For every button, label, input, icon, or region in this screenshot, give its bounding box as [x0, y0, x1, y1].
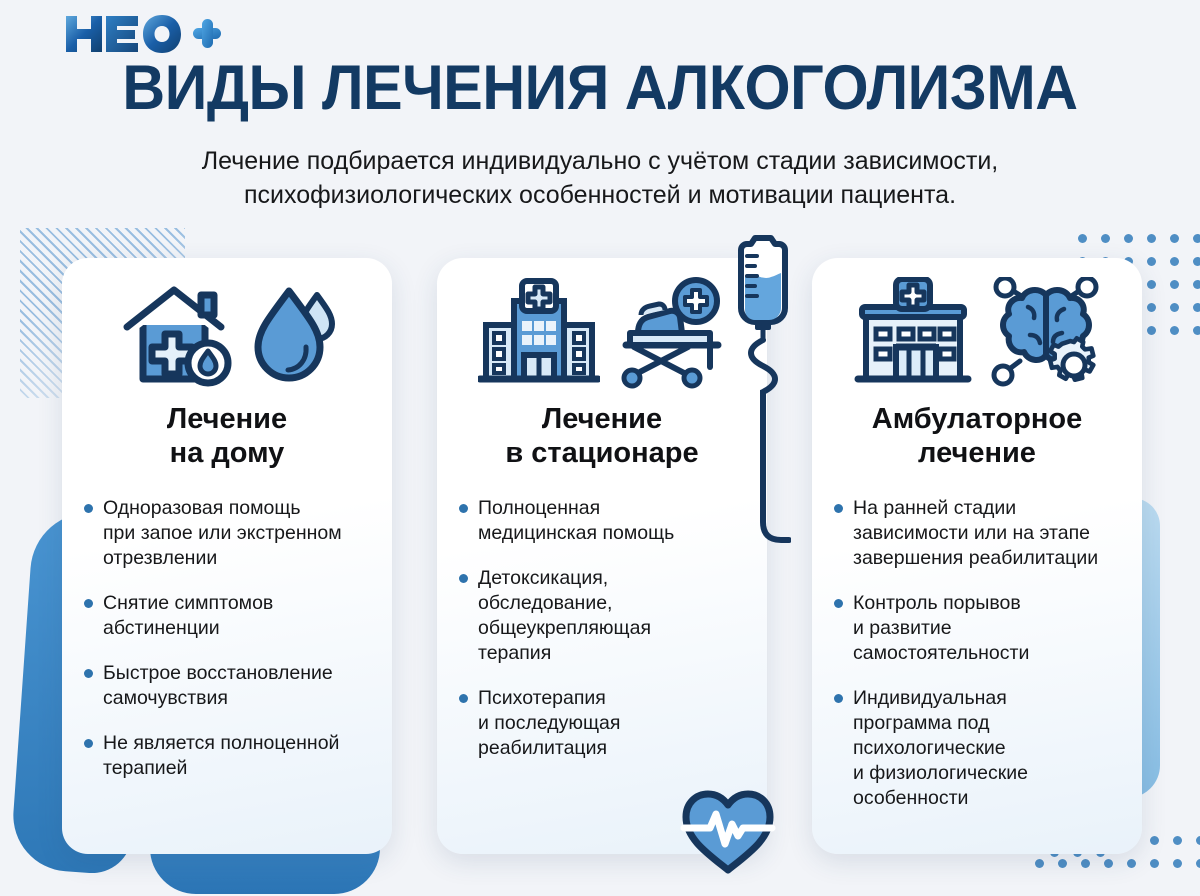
list-item: Быстрое восстановление самочувствия	[84, 661, 372, 711]
hospital-bed-icon	[616, 277, 726, 394]
list-item: Индивидуальная программа под психологиче…	[834, 686, 1122, 811]
card-outpatient-title-line-2: лечение	[826, 436, 1128, 470]
card-outpatient-bullet-list: На ранней стадии зависимости или на этап…	[812, 470, 1142, 810]
list-item: Психотерапия и последующая реабилитация	[459, 686, 747, 761]
card-inpatient-title: Лечение в стационаре	[437, 398, 767, 470]
home-medical-icon	[117, 277, 235, 394]
bullet-dot-icon	[459, 574, 468, 583]
card-outpatient-title-line-1: Амбулаторное	[826, 402, 1128, 436]
bullet-dot-icon	[84, 669, 93, 678]
bullet-dot-icon	[459, 504, 468, 513]
hospital-building-icon	[478, 277, 600, 394]
list-item: Одноразовая помощь при запое или экстрен…	[84, 496, 372, 571]
list-item: Не является полноценной терапией	[84, 731, 372, 781]
list-item: Детоксикация, обследование, общеукрепляю…	[459, 566, 747, 666]
card-home-icons	[62, 258, 392, 398]
card-outpatient-icons	[812, 258, 1142, 398]
card-inpatient-bullet-list: Полноценная медицинская помощь Детоксика…	[437, 470, 767, 761]
list-item: Полноценная медицинская помощь	[459, 496, 747, 546]
card-home-title-line-1: Лечение	[76, 402, 378, 436]
card-inpatient-title-line-1: Лечение	[451, 402, 753, 436]
page-subtitle-line-2: психофизиологических особенностей и моти…	[80, 178, 1120, 212]
bullet-dot-icon	[834, 599, 843, 608]
bullet-dot-icon	[834, 504, 843, 513]
bullet-dot-icon	[459, 694, 468, 703]
water-drop-icon	[251, 281, 337, 390]
page-subtitle-line-1: Лечение подбирается индивидуально с учёт…	[80, 144, 1120, 178]
treatment-card-outpatient[interactable]: Амбулаторное лечение На ранней стадии за…	[812, 258, 1142, 854]
bullet-dot-icon	[84, 599, 93, 608]
bullet-dot-icon	[84, 504, 93, 513]
treatment-card-home[interactable]: Лечение на дому Одноразовая помощь при з…	[62, 258, 392, 854]
card-inpatient-title-line-2: в стационаре	[451, 436, 753, 470]
page-title: ВИДЫ ЛЕЧЕНИЯ АЛКОГОЛИЗМА	[36, 56, 1164, 120]
list-item: Снятие симптомов абстиненции	[84, 591, 372, 641]
card-home-bullet-list: Одноразовая помощь при запое или экстрен…	[62, 470, 392, 781]
neo-plus-logo[interactable]	[62, 12, 222, 56]
page-subtitle: Лечение подбирается индивидуально с учёт…	[80, 144, 1120, 212]
clinic-building-icon	[852, 277, 974, 394]
heartbeat-heart-icon	[680, 786, 776, 881]
card-home-title-line-2: на дому	[76, 436, 378, 470]
list-item: На ранней стадии зависимости или на этап…	[834, 496, 1122, 571]
brain-gear-icon	[990, 277, 1102, 394]
bullet-dot-icon	[834, 694, 843, 703]
card-inpatient-icons	[437, 258, 767, 398]
treatment-card-inpatient[interactable]: Лечение в стационаре Полноценная медицин…	[437, 258, 767, 854]
iv-drip-icon	[735, 228, 791, 563]
bullet-dot-icon	[84, 739, 93, 748]
card-home-title: Лечение на дому	[62, 398, 392, 470]
list-item: Контроль порывов и развитие самостоятель…	[834, 591, 1122, 666]
card-outpatient-title: Амбулаторное лечение	[812, 398, 1142, 470]
